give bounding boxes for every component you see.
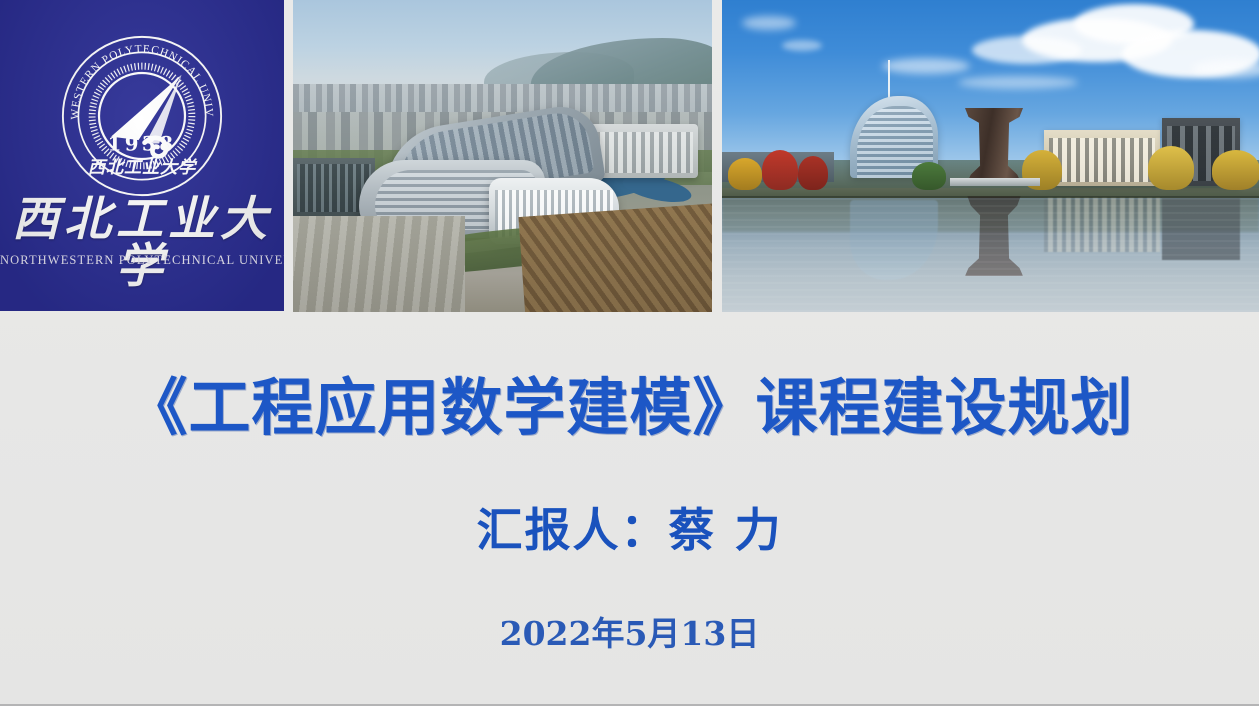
photo-cloud <box>972 36 1082 64</box>
presenter-line: 汇报人：蔡 力 <box>0 503 1259 558</box>
slide-title: 《工程应用数学建模》课程建设规划 <box>0 372 1259 444</box>
presentation-slide: NORTHWESTERN POLYTECHNICAL UNIVERSITY 19… <box>0 0 1259 706</box>
photo-cloud <box>782 40 822 51</box>
photo-tree <box>798 156 828 190</box>
banner-strip: NORTHWESTERN POLYTECHNICAL UNIVERSITY 19… <box>0 0 1259 313</box>
photo-tree <box>912 162 946 190</box>
photo-sculpture-base <box>950 178 1040 186</box>
photo-farm-field <box>518 203 712 312</box>
photo-cloud <box>742 16 796 30</box>
photo-tree <box>728 158 762 190</box>
svg-text:西北工业大学: 西北工业大学 <box>88 157 198 178</box>
university-crest-icon: NORTHWESTERN POLYTECHNICAL UNIVERSITY 19… <box>56 30 228 202</box>
aerial-campus-photo <box>293 0 712 312</box>
svg-text:1938: 1938 <box>108 131 177 155</box>
university-name-en: NORTHWESTERN POLYTECHNICAL UNIVERSITY <box>0 253 284 268</box>
lake-reflection-photo <box>722 0 1259 312</box>
presentation-date: 2022年5月13日 <box>0 614 1259 654</box>
photo-tree <box>1148 146 1194 190</box>
photo-water-ripples <box>722 198 1259 312</box>
photo-tree <box>1212 150 1259 190</box>
photo-cloud <box>958 76 1078 89</box>
university-name-cn: 西北工业大学 <box>0 196 284 290</box>
photo-tree <box>762 150 798 190</box>
photo-plaza <box>293 216 465 312</box>
photo-cloud <box>882 58 970 74</box>
university-logo-panel: NORTHWESTERN POLYTECHNICAL UNIVERSITY 19… <box>0 0 284 311</box>
